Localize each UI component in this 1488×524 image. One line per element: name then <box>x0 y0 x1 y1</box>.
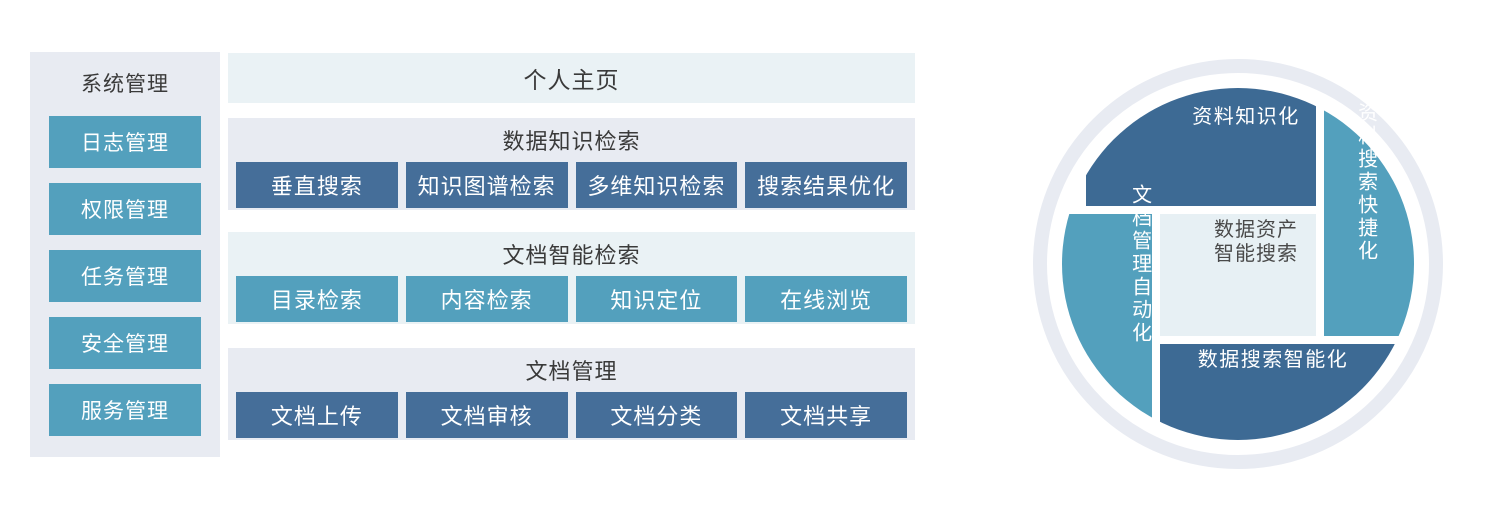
chip-content-search[interactable]: 内容检索 <box>406 276 568 322</box>
sidebar-item-service-management[interactable]: 服务管理 <box>49 384 201 436</box>
chip-document-upload[interactable]: 文档上传 <box>236 392 398 438</box>
chip-label: 文档分类 <box>610 399 702 431</box>
sidebar-item-security-management[interactable]: 安全管理 <box>49 317 201 369</box>
chip-label: 在线浏览 <box>780 283 872 315</box>
panel-title: 个人主页 <box>524 61 620 95</box>
chip-knowledge-location[interactable]: 知识定位 <box>576 276 738 322</box>
chip-search-result-optimization[interactable]: 搜索结果优化 <box>745 162 907 208</box>
panel-chip-row: 目录检索 内容检索 知识定位 在线浏览 <box>228 276 915 322</box>
panel-chip-row: 垂直搜索 知识图谱检索 多维知识检索 搜索结果优化 <box>228 162 915 208</box>
chip-label: 多维知识检索 <box>587 169 725 201</box>
panel-chip-row: 文档上传 文档审核 文档分类 文档共享 <box>228 392 915 438</box>
chip-document-share[interactable]: 文档共享 <box>745 392 907 438</box>
chip-label: 文档上传 <box>271 399 363 431</box>
pinwheel-svg <box>1028 54 1448 474</box>
chip-catalog-search[interactable]: 目录检索 <box>236 276 398 322</box>
sidebar-item-label: 安全管理 <box>81 328 169 358</box>
chip-label: 知识定位 <box>610 283 702 315</box>
chip-label: 内容检索 <box>441 283 533 315</box>
sidebar-item-task-management[interactable]: 任务管理 <box>49 250 201 302</box>
sidebar-item-permission-management[interactable]: 权限管理 <box>49 183 201 235</box>
sidebar-item-log-management[interactable]: 日志管理 <box>49 116 201 168</box>
chip-label: 知识图谱检索 <box>418 169 556 201</box>
sidebar-item-label: 权限管理 <box>81 194 169 224</box>
panel-title: 数据知识检索 <box>228 124 915 156</box>
panel-personal-homepage[interactable]: 个人主页 <box>228 53 915 103</box>
panel-document-management: 文档管理 文档上传 文档审核 文档分类 文档共享 <box>228 348 915 440</box>
panel-title: 文档管理 <box>228 354 915 386</box>
chip-label: 搜索结果优化 <box>757 169 895 201</box>
chip-label: 文档共享 <box>780 399 872 431</box>
panel-document-intelligent-retrieval: 文档智能检索 目录检索 内容检索 知识定位 在线浏览 <box>228 232 915 324</box>
sidebar-title: 系统管理 <box>81 66 169 116</box>
chip-multidimensional-knowledge-search[interactable]: 多维知识检索 <box>576 162 738 208</box>
diagram-root: 系统管理 日志管理 权限管理 任务管理 安全管理 服务管理 个人主页 数据知识检… <box>0 0 1488 524</box>
chip-online-browse[interactable]: 在线浏览 <box>745 276 907 322</box>
chip-vertical-search[interactable]: 垂直搜索 <box>236 162 398 208</box>
sidebar-item-label: 日志管理 <box>81 127 169 157</box>
sidebar-item-label: 服务管理 <box>81 395 169 425</box>
pinwheel-diagram: 资料知识化 资料搜索快捷化 数据搜索智能化 文档管理自动化 数据资产 智能搜索 <box>1028 54 1448 474</box>
chip-label: 文档审核 <box>441 399 533 431</box>
chip-label: 目录检索 <box>271 283 363 315</box>
panel-data-knowledge-retrieval: 数据知识检索 垂直搜索 知识图谱检索 多维知识检索 搜索结果优化 <box>228 118 915 210</box>
sidebar-item-label: 任务管理 <box>81 261 169 291</box>
chip-knowledge-graph-search[interactable]: 知识图谱检索 <box>406 162 568 208</box>
segment-center[interactable] <box>1160 214 1316 336</box>
chip-document-review[interactable]: 文档审核 <box>406 392 568 438</box>
chip-label: 垂直搜索 <box>271 169 363 201</box>
system-management-sidebar: 系统管理 日志管理 权限管理 任务管理 安全管理 服务管理 <box>30 52 220 457</box>
chip-document-classification[interactable]: 文档分类 <box>576 392 738 438</box>
panel-title: 文档智能检索 <box>228 238 915 270</box>
